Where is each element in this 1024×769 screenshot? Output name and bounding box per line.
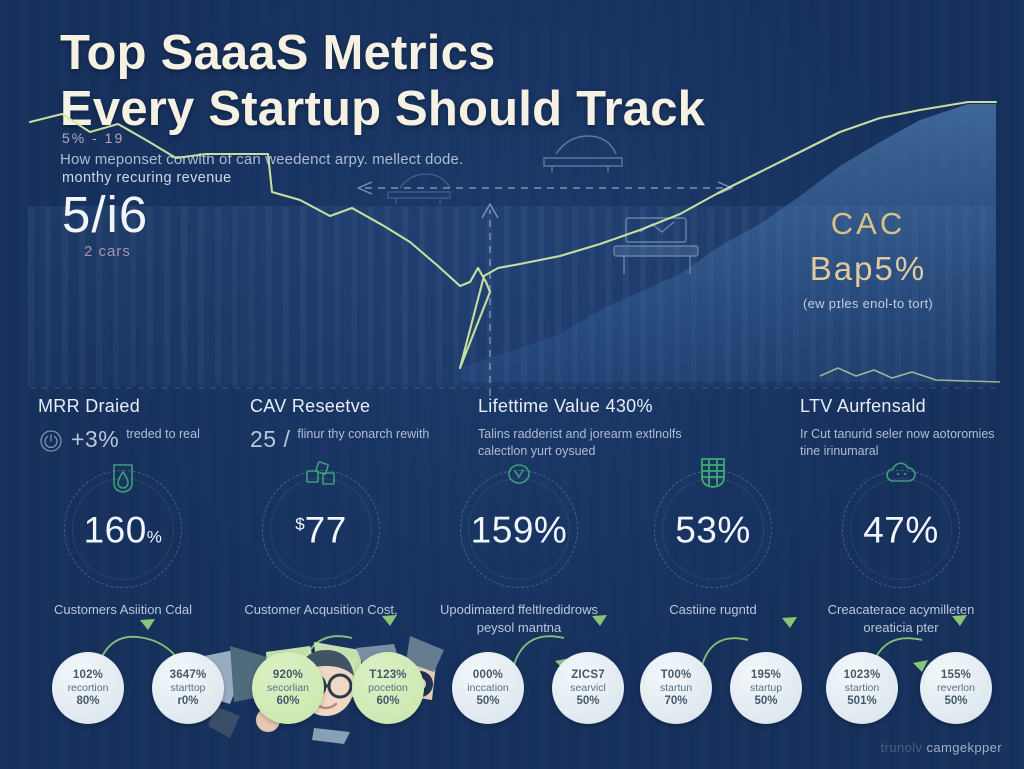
shield-drop-icon <box>108 461 138 500</box>
bubble-bottom: 50% <box>576 695 599 707</box>
cac-overlay: CAC Bap5% (ew pɪles enol-to tort) <box>748 206 988 311</box>
bubble-top: T00% <box>661 669 692 681</box>
bubble-top: 102% <box>73 669 103 681</box>
bubble-bottom: 50% <box>476 695 499 707</box>
bubble-bottom: 60% <box>276 695 299 707</box>
section-title: Lifettime Value 430% <box>478 396 728 417</box>
gauge-churn: 53% Castiine rugntd <box>618 470 808 619</box>
bubble-label: searvicl <box>570 682 606 694</box>
gauge-value: 159% <box>461 510 577 552</box>
bubble-item[interactable]: 3647% starttop r0% <box>152 652 224 724</box>
bubble-label: reverlon <box>937 682 975 694</box>
bubble-row: 102% recortion 80% 3647% starttop r0% 92… <box>0 652 1024 744</box>
hero-chart: 5% - 19 monthy recuring revenue 5/i6 2 c… <box>0 96 1024 396</box>
puzzle-icon <box>303 461 339 498</box>
bubble-top: ZICS7 <box>571 669 605 681</box>
bubble-item[interactable]: T123% pocetion 60% <box>352 652 424 724</box>
gauge-row: 160% Customers Asiition Cdal $77 Custome <box>0 470 1024 630</box>
gauge-customers: 160% Customers Asiition Cdal <box>28 470 218 619</box>
bubble-item[interactable]: 1023% startion 501% <box>826 652 898 724</box>
bubble-bottom: 50% <box>944 695 967 707</box>
bubble-bottom: 70% <box>664 695 687 707</box>
bubble-top: 920% <box>273 669 303 681</box>
bubble-bottom: 501% <box>847 695 876 707</box>
gauge-value: 47% <box>843 510 959 552</box>
bubble-bottom: 80% <box>76 695 99 707</box>
bubble-top: 3647% <box>170 669 207 681</box>
gauge-value: 160% <box>65 510 181 552</box>
gauge-value: $77 <box>263 510 379 552</box>
bubble-item[interactable]: 920% secorlian 60% <box>252 652 324 724</box>
gauge-ring: 47% <box>842 470 960 588</box>
footer-faint-text: trunolv <box>881 740 923 755</box>
mrr-overlay: 5% - 19 monthy recuring revenue 5/i6 2 c… <box>62 130 382 260</box>
footer-branding: trunolv camgekpper <box>881 740 1002 755</box>
section-metric-value: 25 / <box>250 426 290 453</box>
section-metric-value: +3% <box>71 426 119 453</box>
section-description: treded to real <box>126 426 200 443</box>
bubble-item[interactable]: 102% recortion 80% <box>52 652 124 724</box>
bubble-label: secorlian <box>267 682 309 694</box>
gauge-ring: 53% <box>654 470 772 588</box>
gauge-ring: 160% <box>64 470 182 588</box>
speech-check-icon <box>504 461 534 496</box>
bubble-label: startup <box>750 682 782 694</box>
cac-note: (ew pɪles enol-to tort) <box>748 296 988 311</box>
section-description: Ir Cut tanurid seler now aotoromies tine… <box>800 426 1015 459</box>
section-title: LTV Aurfensald <box>800 396 1015 417</box>
doodle-car-left <box>388 174 450 204</box>
bubble-bottom: 60% <box>376 695 399 707</box>
gauge-ring: 159% <box>460 470 578 588</box>
page-title-line1: Top SaaaS Metrics <box>60 28 860 80</box>
bubble-top: 000% <box>473 669 503 681</box>
bubble-top: 1023% <box>844 669 881 681</box>
section-description: flinur thy conarch rewith <box>297 426 429 443</box>
bubble-top: 155% <box>941 669 971 681</box>
bubble-bottom: r0% <box>177 695 198 707</box>
mrr-sublabel: 2 cars <box>62 243 382 260</box>
bubble-label: starttop <box>170 682 205 694</box>
doodle-car-right <box>544 136 622 172</box>
footer-brand: camgekpper <box>926 740 1002 755</box>
bubble-top: T123% <box>369 669 406 681</box>
power-clock-icon <box>38 428 64 459</box>
mrr-label: monthy recuring revenue <box>62 170 382 186</box>
bubble-item[interactable]: 195% startup 50% <box>730 652 802 724</box>
gauge-value: 53% <box>655 510 771 552</box>
gauge-cac: $77 Customer Acqusition Cost, <box>226 470 416 619</box>
cac-title: CAC <box>748 206 988 242</box>
section-ltv: LTV Aurfensald Ir Cut tanurid seler now … <box>800 396 1015 459</box>
gauge-ring: $77 <box>262 470 380 588</box>
bubble-label: pocetion <box>368 682 408 694</box>
bubble-label: startion <box>845 682 879 694</box>
bubble-label: inccation <box>467 682 508 694</box>
section-title: MRR Draied <box>38 396 200 417</box>
cloud-face-icon <box>884 461 918 494</box>
section-mrr: MRR Draied +3% treded to real <box>38 396 200 459</box>
bubble-label: startun <box>660 682 692 694</box>
cac-value: Bap5% <box>748 250 988 288</box>
database-grid-icon <box>697 453 729 496</box>
mrr-percent: 5% - 19 <box>62 130 382 146</box>
mrr-value: 5/i6 <box>62 188 382 241</box>
bubble-label: recortion <box>68 682 109 694</box>
bubble-item[interactable]: T00% startun 70% <box>640 652 712 724</box>
bubble-top: 195% <box>751 669 781 681</box>
bubble-item[interactable]: 155% reverlon 50% <box>920 652 992 724</box>
section-description: Talins radderist and jorearm extlnolfs c… <box>478 426 728 459</box>
bubble-bottom: 50% <box>754 695 777 707</box>
infographic-canvas: Top SaaaS Metrics Every Startup Should T… <box>0 0 1024 769</box>
section-lifetime-value: Lifettime Value 430% Talins radderist an… <box>478 396 728 459</box>
bubble-item[interactable]: ZICS7 searvicl 50% <box>552 652 624 724</box>
doodle-desk-icon <box>614 218 698 274</box>
bubble-item[interactable]: 000% inccation 50% <box>452 652 524 724</box>
section-cav: CAV Reseetve 25 / flinur thy conarch rew… <box>250 396 429 453</box>
section-title: CAV Reseetve <box>250 396 429 417</box>
